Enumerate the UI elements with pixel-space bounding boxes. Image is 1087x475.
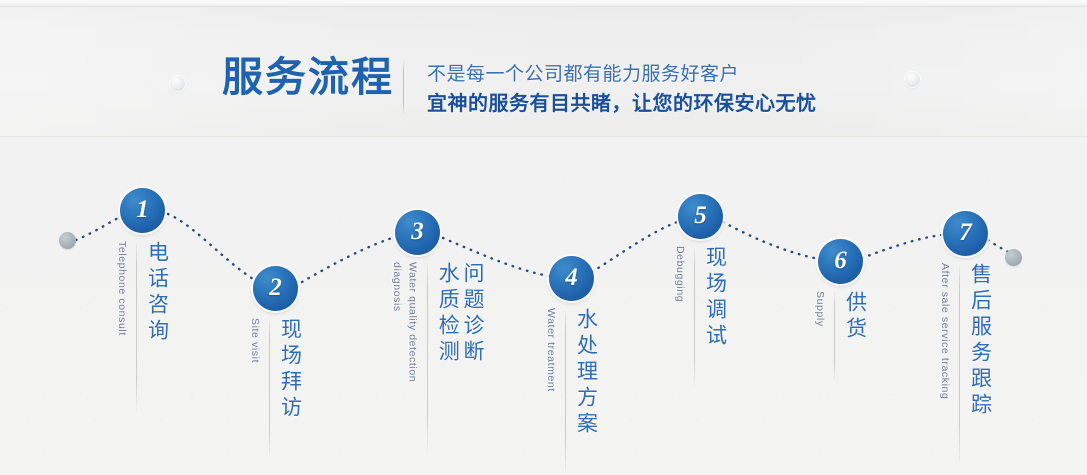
step-number-1: 1 (136, 197, 149, 222)
step-number-5: 5 (694, 203, 707, 228)
step-label-4-en-columns: Water treatment (542, 308, 558, 392)
decorative-screw-left-icon (170, 76, 185, 91)
step-number-2: 2 (269, 275, 282, 300)
step-label-4-cn-columns: 水处理方案 (573, 308, 598, 438)
step-node-4[interactable]: 4 (549, 256, 594, 301)
step-label-5-cn-col-0: 现场调试 (702, 246, 727, 350)
service-process-banner-page: 服务流程 不是每一个公司都有能力服务好客户 宜神的服务有目共睹，让您的环保安心无… (0, 0, 1087, 475)
step-node-6[interactable]: 6 (818, 239, 863, 284)
step-node-3[interactable]: 3 (395, 210, 440, 255)
step-label-2: 现场拜访 Site visit (246, 318, 302, 458)
step-label-6-cn-col-0: 供货 (842, 291, 867, 343)
step-label-6: 供货 Supply (811, 291, 867, 381)
step-label-4-divider (565, 310, 566, 473)
step-label-4: 水处理方案 Water treatment (542, 308, 598, 473)
step-label-7-cn-col-0: 售后服务跟踪 (967, 263, 992, 419)
step-number-7: 7 (959, 220, 972, 245)
step-label-2-en-columns: Site visit (246, 318, 262, 363)
step-label-2-cn-columns: 现场拜访 (277, 318, 302, 422)
step-node-1[interactable]: 1 (120, 188, 165, 233)
subtitle-line-1: 不是每一个公司都有能力服务好客户 (427, 62, 817, 88)
step-label-3-en-col-0: Water quality detection (404, 262, 420, 382)
step-label-2-en-col-0: Site visit (246, 318, 262, 363)
step-label-6-divider (834, 293, 835, 381)
step-label-6-en-columns: Supply (811, 291, 827, 327)
step-label-7-divider (959, 265, 960, 463)
banner-subtitle-group: 不是每一个公司都有能力服务好客户 宜神的服务有目共睹，让您的环保安心无忧 (427, 62, 817, 118)
step-label-6-cn-columns: 供货 (842, 291, 867, 343)
top-edge-strip (0, 0, 1087, 7)
page-title: 服务流程 (222, 57, 394, 98)
header-banner: 服务流程 不是每一个公司都有能力服务好客户 宜神的服务有目共睹，让您的环保安心无… (0, 7, 1087, 137)
step-node-2[interactable]: 2 (253, 266, 298, 311)
step-label-4-cn-col-0: 水处理方案 (573, 308, 598, 438)
step-label-1-en-columns: Telephone consult (113, 241, 129, 336)
step-label-3-en-col-1: diagnosis (388, 262, 404, 382)
step-label-7-en-col-0: After sale service tracking (936, 263, 952, 399)
step-label-1: 电话咨询 Telephone consult (113, 241, 169, 411)
subtitle-line-2: 宜神的服务有目共睹，让您的环保安心无忧 (427, 90, 817, 118)
step-label-3-en-columns: Water quality detection diagnosis (388, 262, 420, 382)
step-node-5[interactable]: 5 (678, 194, 723, 239)
step-label-1-cn-columns: 电话咨询 (144, 241, 169, 345)
flow-start-dot (59, 232, 76, 249)
step-label-7-cn-columns: 售后服务跟踪 (967, 263, 992, 419)
step-number-6: 6 (834, 248, 847, 273)
step-number-4: 4 (565, 265, 578, 290)
step-label-2-divider (269, 320, 270, 458)
step-node-7[interactable]: 7 (943, 211, 988, 256)
step-label-2-cn-col-0: 现场拜访 (277, 318, 302, 422)
step-label-3-cn-columns: 问题诊断 水质检测 (435, 262, 485, 366)
step-label-4-en-col-0: Water treatment (542, 308, 558, 392)
step-label-5-cn-columns: 现场调试 (702, 246, 727, 350)
step-label-1-en-col-0: Telephone consult (113, 241, 129, 336)
step-label-7: 售后服务跟踪 After sale service tracking (936, 263, 992, 463)
decorative-screw-right-icon (905, 72, 920, 87)
step-label-3: 问题诊断 水质检测 Water quality detection diagno… (388, 262, 484, 452)
step-number-3: 3 (411, 219, 424, 244)
step-label-3-cn-col-1: 水质检测 (435, 262, 460, 366)
step-label-3-cn-col-0: 问题诊断 (459, 262, 484, 366)
step-label-7-en-columns: After sale service tracking (936, 263, 952, 399)
step-label-6-en-col-0: Supply (811, 291, 827, 327)
process-flow-area: 1 电话咨询 Telephone consult 2 现场拜访 Site vis… (0, 136, 1087, 475)
step-label-1-cn-col-0: 电话咨询 (144, 241, 169, 345)
title-divider (403, 59, 404, 116)
step-label-5: 现场调试 Debugging (671, 246, 727, 386)
step-label-5-en-columns: Debugging (671, 246, 687, 302)
step-label-3-divider (427, 264, 428, 452)
flow-end-dot (1005, 249, 1022, 266)
step-label-1-divider (136, 243, 137, 411)
step-label-5-divider (694, 248, 695, 386)
step-label-5-en-col-0: Debugging (671, 246, 687, 302)
